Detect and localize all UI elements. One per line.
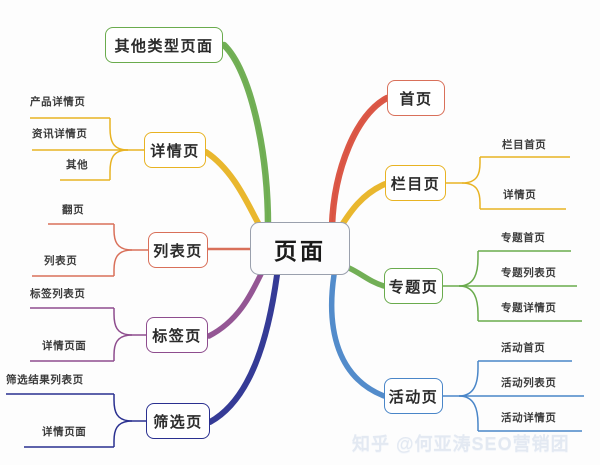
leaf-topic-0[interactable]: 专题首页: [501, 233, 545, 244]
leaf-filter-1[interactable]: 详情页面: [42, 427, 86, 438]
node-root-page[interactable]: 页面: [250, 222, 350, 275]
node-root-label: 页面: [274, 232, 326, 266]
branch-column: [340, 184, 385, 228]
node-filter[interactable]: 筛选页: [146, 403, 210, 439]
leaf-activity-2[interactable]: 活动详情页: [501, 413, 557, 424]
node-home[interactable]: 首页: [387, 80, 445, 116]
leaves-list: [32, 224, 148, 276]
leaf-detail-0[interactable]: 产品详情页: [30, 97, 86, 108]
branch-filter: [210, 275, 277, 422]
leaves-tag: [30, 308, 146, 361]
leaf-column-0[interactable]: 栏目首页: [502, 140, 546, 151]
leaf-column-1[interactable]: 详情页: [503, 190, 536, 201]
node-tag[interactable]: 标签页: [146, 317, 208, 353]
branch-tag: [209, 272, 262, 336]
leaf-filter-0[interactable]: 筛选结果列表页: [6, 375, 84, 386]
branch-detail: [206, 152, 261, 228]
branch-topic: [349, 268, 384, 286]
leaf-tag-1[interactable]: 详情页面: [42, 341, 86, 352]
leaf-detail-1[interactable]: 资讯详情页: [32, 129, 88, 140]
leaves-filter: [6, 394, 146, 447]
node-detail-label: 详情页: [150, 140, 200, 161]
leaf-topic-2[interactable]: 专题详情页: [501, 303, 557, 314]
node-topic[interactable]: 专题页: [384, 268, 443, 304]
node-other-types-label: 其他类型页面: [114, 35, 213, 56]
node-detail[interactable]: 详情页: [144, 132, 206, 168]
leaf-list-1[interactable]: 列表页: [44, 256, 77, 267]
node-activity-label: 活动页: [389, 386, 439, 407]
leaf-activity-0[interactable]: 活动首页: [501, 343, 545, 354]
leaf-list-0[interactable]: 翻页: [62, 205, 84, 216]
watermark: 知乎 @何亚涛SEO营销团: [352, 430, 570, 456]
leaf-activity-1[interactable]: 活动列表页: [501, 378, 557, 389]
branch-activity: [332, 275, 384, 396]
node-topic-label: 专题页: [389, 276, 439, 297]
mindmap-canvas: 页面 其他类型页面 详情页 列表页 标签页 筛选页 首页 栏目页 专题页 活动页…: [0, 0, 600, 465]
leaf-tag-0[interactable]: 标签列表页: [30, 289, 86, 300]
node-column[interactable]: 栏目页: [385, 165, 446, 201]
leaf-topic-1[interactable]: 专题列表页: [501, 268, 557, 279]
node-column-label: 栏目页: [391, 173, 441, 194]
node-list-label: 列表页: [153, 240, 203, 261]
leaf-detail-2[interactable]: 其他: [66, 160, 88, 171]
node-tag-label: 标签页: [152, 325, 202, 346]
node-home-label: 首页: [399, 88, 432, 109]
node-list[interactable]: 列表页: [148, 232, 208, 268]
leaves-column: [446, 157, 570, 209]
node-activity[interactable]: 活动页: [384, 378, 443, 414]
branch-home: [332, 98, 387, 226]
node-other-types[interactable]: 其他类型页面: [105, 27, 223, 63]
node-filter-label: 筛选页: [153, 411, 203, 432]
